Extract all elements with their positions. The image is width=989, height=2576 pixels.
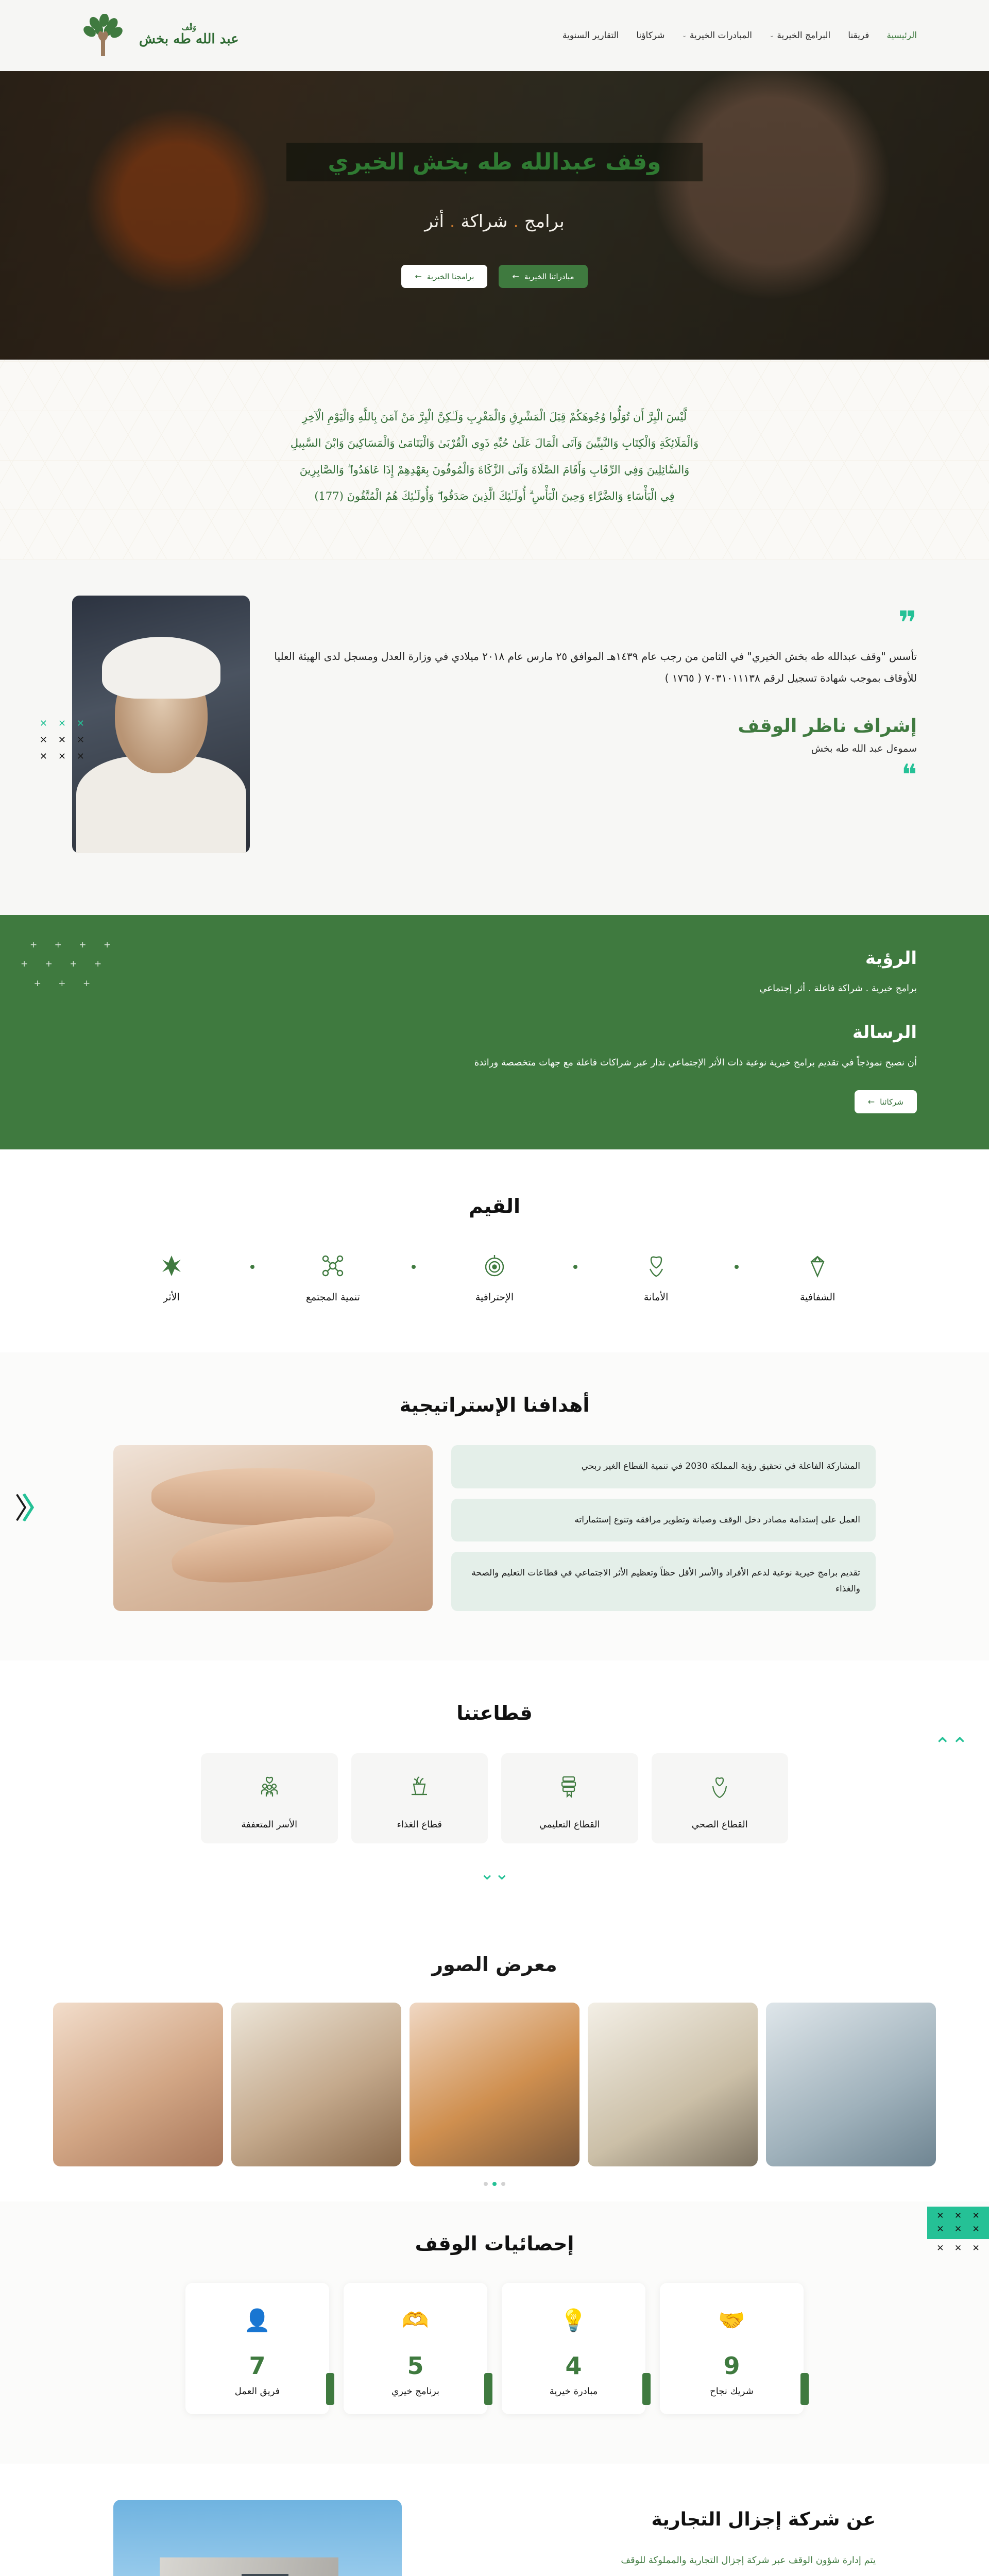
- value-item-impact: الأثر: [93, 1251, 250, 1303]
- initiatives-button-label: مبادراتنا الخيرية: [524, 272, 574, 281]
- goal-card: تقديم برامج خيرية نوعية لدعم الأفراد وال…: [451, 1552, 876, 1611]
- sector-card-health[interactable]: القطاع الصحي: [652, 1753, 789, 1843]
- carousel-dot[interactable]: [484, 2182, 488, 2186]
- value-separator-dot: [412, 1265, 416, 1269]
- quran-line: فِي الْبَأْسَاءِ وَالضَّرَّاءِ وَحِينَ ا…: [113, 483, 876, 510]
- hero-subtitle: برامج . شراكة . أثر: [286, 211, 702, 232]
- values-title: القيم: [0, 1195, 989, 1217]
- diamond-icon: [739, 1251, 896, 1280]
- quote-open-icon: ❞: [270, 613, 917, 632]
- heart-hand-icon: [577, 1251, 735, 1280]
- sparkle-star-icon: [93, 1251, 250, 1280]
- company-building-photo: [113, 2500, 402, 2576]
- site-header: الرئيسية فريقنا البرامج الخيرية ⌄ المباد…: [0, 0, 989, 71]
- waqf-statistics-section: ✕✕✕✕✕✕ ✕✕✕ إحصائيات الوقف 🤝 9 شريك نجاح …: [0, 2201, 989, 2464]
- arrow-left-icon: ←: [415, 272, 421, 281]
- target-icon: [416, 1251, 573, 1280]
- value-separator-dot: [735, 1265, 739, 1269]
- initiatives-button[interactable]: مبادراتنا الخيرية ←: [499, 265, 587, 288]
- stat-value: 9: [665, 2352, 798, 2380]
- value-label: تنمية المجتمع: [254, 1292, 412, 1303]
- hands-heart-icon: [657, 1774, 783, 1802]
- quote-close-icon: ❝: [270, 770, 917, 781]
- sectors-title: قطاعتنا: [0, 1702, 989, 1724]
- value-item-community-development: تنمية المجتمع: [254, 1251, 412, 1303]
- tree-hand-logo-icon: [72, 14, 134, 57]
- person-icon: 👤: [191, 2310, 324, 2331]
- goals-title: أهدافنا الإستراتيجية: [0, 1394, 989, 1416]
- chevron-up-icon[interactable]: ⌃⌃: [934, 1738, 968, 1753]
- gallery-slide[interactable]: [766, 2003, 936, 2166]
- value-separator-dot: [250, 1265, 254, 1269]
- programs-button-label: برامجنا الخيرية: [427, 272, 474, 281]
- family-icon: [206, 1774, 333, 1802]
- stat-card-partners: 🤝 9 شريك نجاح: [660, 2283, 804, 2414]
- sector-card-families[interactable]: الأسر المتعففة: [201, 1753, 338, 1843]
- handshake-icon: 🤝: [665, 2310, 798, 2331]
- arrow-left-icon: ←: [868, 1097, 875, 1107]
- chevron-down-scroll-icon[interactable]: ⌄⌄: [0, 1867, 989, 1881]
- goal-card: المشاركة الفاعلة في تحقيق رؤية المملكة 2…: [451, 1445, 876, 1488]
- carousel-dot-active[interactable]: [492, 2182, 497, 2186]
- quran-line: لَّيْسَ الْبِرَّ أَن تُوَلُّوا وُجُوهَكُ…: [113, 404, 876, 430]
- gallery-carousel[interactable]: [0, 2003, 989, 2166]
- sector-label: القطاع التعليمي: [506, 1819, 633, 1830]
- heart-hands-icon: 🫶: [349, 2310, 482, 2331]
- nav-item-label: المبادرات الخيرية: [690, 30, 752, 41]
- sector-label: قطاع الغذاء: [356, 1819, 483, 1830]
- hero-subtitle-part-3: أثر: [424, 211, 444, 232]
- gallery-slide[interactable]: [588, 2003, 758, 2166]
- decorative-x-grid: ✕✕✕✕✕✕ ✕✕✕: [927, 2207, 989, 2259]
- site-logo[interactable]: وَقْف عبد الله طه بخش: [72, 14, 239, 57]
- lightbulb-icon: 💡: [507, 2310, 640, 2331]
- stat-label: شريك نجاح: [665, 2386, 798, 2397]
- quran-verse-section: لَّيْسَ الْبِرَّ أَن تُوَلُّوا وُجُوهَكُ…: [0, 360, 989, 560]
- supervisor-role-title: إشراف ناظر الوقف: [270, 716, 917, 737]
- nav-item-partners[interactable]: شركاؤنا: [636, 30, 664, 41]
- nav-item-label: فريقنا: [848, 30, 869, 41]
- value-label: الشفافية: [739, 1292, 896, 1303]
- network-people-icon: [254, 1251, 412, 1280]
- about-company-section: عن شركة إجزال التجارية يتم إدارة شؤون ال…: [0, 2464, 989, 2576]
- value-label: الأثر: [93, 1292, 250, 1303]
- quran-line: وَالسَّائِلِينَ وَفِي الرِّقَابِ وَأَقَا…: [113, 457, 876, 483]
- supervisor-portrait-photo: [72, 596, 250, 853]
- hero-actions: مبادراتنا الخيرية ← برامجنا الخيرية ←: [286, 265, 702, 288]
- nav-item-label: شركاؤنا: [636, 30, 664, 41]
- partners-button[interactable]: شركائنا ←: [855, 1090, 917, 1113]
- carousel-dots[interactable]: [0, 2182, 989, 2186]
- nav-item-home[interactable]: الرئيسية: [886, 30, 917, 41]
- strategic-goals-section: أهدافنا الإستراتيجية المشاركة الفاعلة في…: [0, 1352, 989, 1660]
- sector-label: القطاع الصحي: [657, 1819, 783, 1830]
- carousel-dot[interactable]: [501, 2182, 505, 2186]
- stat-label: برنامج خيري: [349, 2386, 482, 2397]
- value-label: الإحترافية: [416, 1292, 573, 1303]
- nav-item-team[interactable]: فريقنا: [848, 30, 869, 41]
- hero-subtitle-dot-2: .: [450, 211, 455, 232]
- vision-title: الرؤية: [72, 948, 917, 969]
- chevron-down-icon: ⌄: [682, 33, 686, 39]
- goals-photo: [113, 1445, 433, 1611]
- supervisor-name: سموءل عبد الله طه بخش: [270, 743, 917, 754]
- value-label: الأمانة: [577, 1292, 735, 1303]
- books-icon: [506, 1774, 633, 1802]
- value-item-trust: الأمانة: [577, 1251, 735, 1303]
- goal-card: العمل على إستدامة مصادر دخل الوقف وصيانة…: [451, 1499, 876, 1541]
- gallery-title: معرض الصور: [0, 1953, 989, 1976]
- mission-text: أن نصبح نموذجاً في تقديم برامج خيرية نوع…: [453, 1054, 917, 1072]
- partners-button-label: شركائنا: [880, 1097, 903, 1107]
- sectors-section: قطاعتنا ⌃⌃ القطاع الصحي القطاع التعليمي: [0, 1660, 989, 1917]
- vision-mission-section: + + + ++ + + ++ + + الرؤية برامج خيرية .…: [0, 915, 989, 1149]
- stat-value: 7: [191, 2352, 324, 2380]
- stat-value: 4: [507, 2352, 640, 2380]
- quran-line: وَالْمَلَائِكَةِ وَالْكِتَابِ وَالنَّبِي…: [113, 430, 876, 456]
- hero-subtitle-part-1: برامج: [524, 211, 565, 232]
- sector-label: الأسر المتعففة: [206, 1819, 333, 1830]
- programs-button[interactable]: برامجنا الخيرية ←: [401, 265, 487, 288]
- value-separator-dot: [573, 1265, 577, 1269]
- chevron-left-icon[interactable]: 〈〈: [14, 1486, 43, 1528]
- stats-title: إحصائيات الوقف: [0, 2232, 989, 2255]
- stat-label: فريق العمل: [191, 2386, 324, 2397]
- arrow-left-icon: ←: [512, 272, 519, 281]
- photo-gallery-section: معرض الصور: [0, 1917, 989, 2201]
- logo-line-2: عبد الله طه بخش: [139, 31, 239, 47]
- nav-item-initiatives[interactable]: المبادرات الخيرية ⌄: [682, 30, 752, 41]
- gallery-slide[interactable]: [410, 2003, 579, 2166]
- decorative-x-pattern: ✕✕✕ ✕✕✕ ✕✕✕: [36, 719, 84, 761]
- nav-item-label: الرئيسية: [886, 30, 917, 41]
- vision-text: برامج خيرية . شراكة فاعلة . أثر إجتماعي: [453, 980, 917, 997]
- hero-subtitle-part-2: شراكة: [461, 211, 507, 232]
- logo-line-1: وَقْف: [139, 24, 239, 32]
- waqf-supervisor-section: ❞ تأسس "وقف عبدالله طه بخش الخيري" في ال…: [0, 560, 989, 915]
- value-item-professionalism: الإحترافية: [416, 1251, 573, 1303]
- about-lead-text: يتم إدارة شؤون الوقف عبر شركة إجزال التج…: [422, 2551, 876, 2570]
- stat-value: 5: [349, 2352, 482, 2380]
- mission-title: الرسالة: [72, 1022, 917, 1043]
- nav-item-label: البرامج الخيرية: [777, 30, 830, 41]
- hero-subtitle-dot-1: .: [513, 211, 519, 232]
- nav-item-annual-reports[interactable]: التقارير السنوية: [562, 30, 619, 41]
- stat-card-initiatives: 💡 4 مبادرة خيرية: [502, 2283, 645, 2414]
- quran-verse-text: لَّيْسَ الْبِرَّ أَن تُوَلُّوا وُجُوهَكُ…: [113, 404, 876, 510]
- sector-card-food[interactable]: قطاع الغذاء: [351, 1753, 488, 1843]
- nav-item-programs[interactable]: البرامج الخيرية ⌄: [770, 30, 830, 41]
- stat-card-programs: 🫶 5 برنامج خيري: [344, 2283, 487, 2414]
- gallery-slide[interactable]: [53, 2003, 223, 2166]
- stat-label: مبادرة خيرية: [507, 2386, 640, 2397]
- values-section: القيم الشفافية الأمانة: [0, 1149, 989, 1352]
- nav-item-label: التقارير السنوية: [562, 30, 619, 41]
- about-title: عن شركة إجزال التجارية: [422, 2509, 876, 2530]
- decorative-plus-pattern: + + + ++ + + ++ + +: [21, 936, 118, 993]
- value-item-transparency: الشفافية: [739, 1251, 896, 1303]
- stat-card-team: 👤 7 فريق العمل: [185, 2283, 329, 2414]
- gallery-slide[interactable]: [231, 2003, 401, 2166]
- hero-title: وقف عبدالله طه بخش الخيري: [286, 143, 702, 181]
- logo-wordmark: وَقْف عبد الله طه بخش: [139, 24, 239, 47]
- founder-paragraph: تأسس "وقف عبدالله طه بخش الخيري" في الثا…: [270, 646, 917, 689]
- chevron-left-accent: 〈: [22, 1493, 43, 1526]
- food-basket-icon: [356, 1774, 483, 1802]
- chevron-down-icon: ⌄: [770, 33, 774, 39]
- hero-banner: وقف عبدالله طه بخش الخيري برامج . شراكة …: [0, 71, 989, 360]
- sector-card-education[interactable]: القطاع التعليمي: [501, 1753, 638, 1843]
- main-nav: الرئيسية فريقنا البرامج الخيرية ⌄ المباد…: [562, 30, 917, 41]
